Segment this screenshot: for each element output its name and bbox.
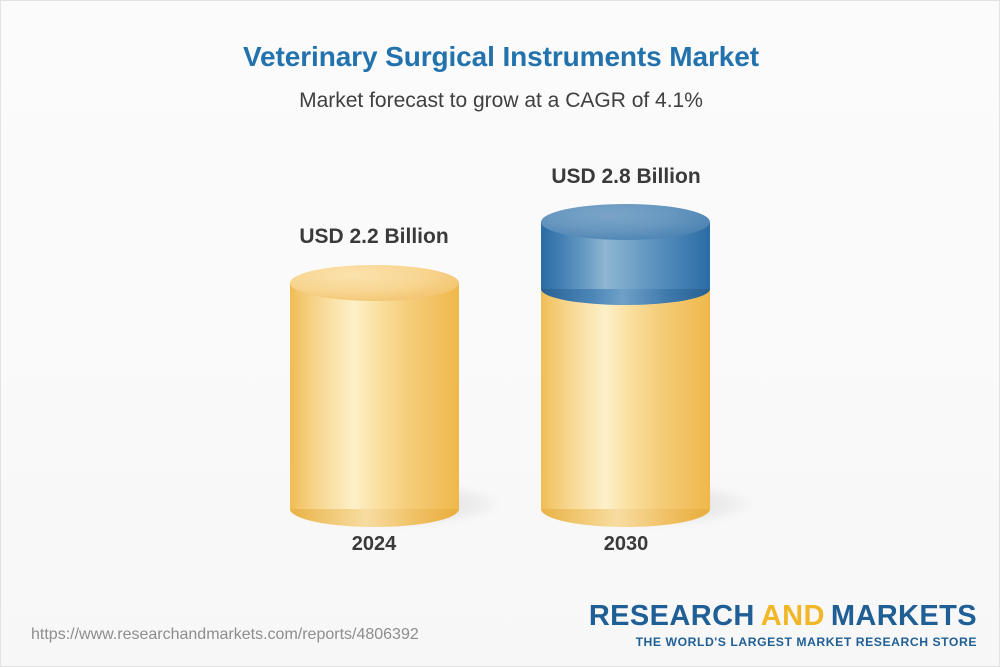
brand-tagline: THE WORLD'S LARGEST MARKET RESEARCH STOR… [589, 636, 977, 648]
bar-category-label-2030: 2030 [466, 533, 786, 556]
cylinder-body-2024 [290, 283, 459, 509]
cylinder-top-2030 [541, 204, 710, 240]
bar-value-label-2030: USD 2.8 Billion [466, 165, 786, 189]
brand-word-and: AND [755, 600, 831, 632]
plot-area: USD 2.2 Billion 2024 USD 2.8 Billion [1, 1, 1000, 601]
cylinder-body-base-2030 [541, 289, 710, 509]
cylinder-top-2024 [290, 265, 459, 301]
brand-logo[interactable]: RESEARCHANDMARKETS THE WORLD'S LARGEST M… [589, 602, 977, 648]
source-url[interactable]: https://www.researchandmarkets.com/repor… [31, 626, 419, 644]
bar-value-label-2024: USD 2.2 Billion [214, 225, 534, 249]
brand-word-research: RESEARCH [589, 600, 755, 632]
chart-card: Veterinary Surgical Instruments Market M… [0, 0, 1000, 667]
brand-word-markets: MARKETS [831, 600, 977, 632]
brand-logo-wordmark: RESEARCHANDMARKETS [589, 602, 977, 631]
